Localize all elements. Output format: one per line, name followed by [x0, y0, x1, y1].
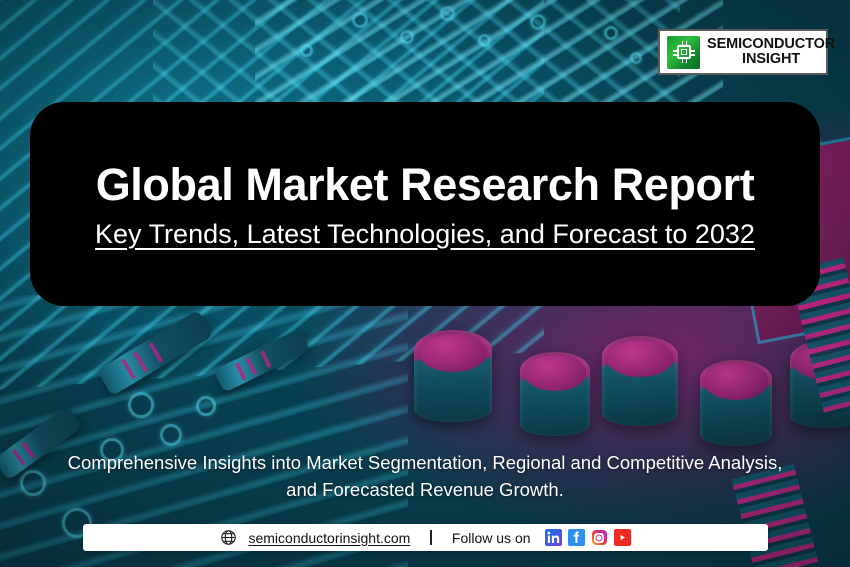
- youtube-icon[interactable]: [614, 529, 631, 546]
- social-links: [545, 529, 631, 546]
- facebook-icon[interactable]: [568, 529, 585, 546]
- description-text: Comprehensive Insights into Market Segme…: [0, 449, 850, 503]
- title-card: Global Market Research Report Key Trends…: [30, 102, 820, 306]
- footer-bar: semiconductorinsight.com Follow us on: [83, 524, 768, 551]
- follow-us-label: Follow us on: [452, 530, 531, 546]
- page-title: Global Market Research Report: [96, 159, 755, 211]
- brand-name-line-1: SEMICONDUCTOR: [707, 37, 835, 52]
- brand-logo-text: SEMICONDUCTOR INSIGHT: [707, 37, 835, 67]
- description-line-1: Comprehensive Insights into Market Segme…: [22, 449, 828, 476]
- brand-logo-badge: SEMICONDUCTOR INSIGHT: [658, 29, 828, 75]
- website-link[interactable]: semiconductorinsight.com: [248, 530, 410, 546]
- microchip-icon: [667, 36, 700, 69]
- linkedin-icon[interactable]: [545, 529, 562, 546]
- instagram-icon[interactable]: [591, 529, 608, 546]
- brand-name-line-2: INSIGHT: [707, 52, 835, 67]
- footer-divider: [430, 530, 432, 545]
- globe-icon: [220, 529, 237, 546]
- poster-canvas: SEMICONDUCTOR INSIGHT Global Market Rese…: [0, 0, 850, 567]
- description-line-2: and Forecasted Revenue Growth.: [22, 476, 828, 503]
- page-subtitle: Key Trends, Latest Technologies, and For…: [95, 219, 755, 250]
